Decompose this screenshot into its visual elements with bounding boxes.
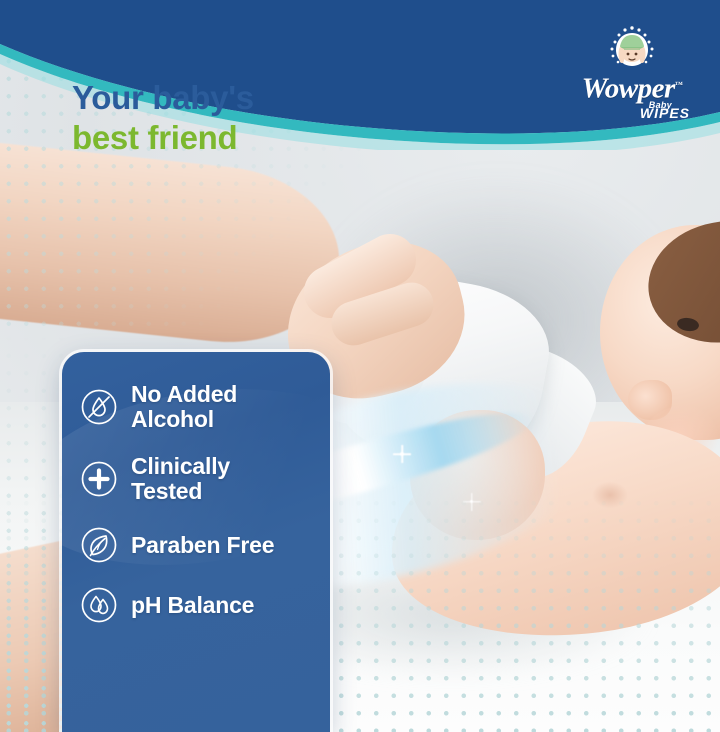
baby-with-towel-icon bbox=[605, 26, 659, 72]
headline-line-1: Your baby's bbox=[72, 78, 254, 118]
feature-label: Paraben Free bbox=[131, 533, 274, 558]
advertisement-banner: Wowper™ Baby WIPES Your baby's best frie… bbox=[0, 0, 720, 732]
feature-label-line-1: Clinically bbox=[131, 453, 230, 479]
water-droplets-icon bbox=[80, 586, 118, 624]
dot-pattern-left bbox=[0, 312, 70, 732]
feature-label-line-2: Tested bbox=[131, 478, 202, 504]
brand-logo: Wowper™ Baby WIPES bbox=[566, 26, 698, 110]
page-title: Your baby's best friend bbox=[72, 78, 254, 158]
logo-wordmark: Wowper™ bbox=[566, 70, 698, 104]
feature-item-paraben-free: Paraben Free bbox=[80, 526, 330, 564]
headline-line-2: best friend bbox=[72, 118, 254, 158]
feature-label: ClinicallyTested bbox=[131, 454, 230, 504]
feature-item-no-added-alcohol: No AddedAlcohol bbox=[80, 382, 330, 432]
no-alcohol-droplet-icon bbox=[80, 388, 118, 426]
feature-label-line-2: Alcohol bbox=[131, 406, 214, 432]
feature-list: No AddedAlcohol ClinicallyTested bbox=[62, 352, 330, 624]
leaf-icon bbox=[80, 526, 118, 564]
features-panel: No AddedAlcohol ClinicallyTested bbox=[62, 352, 330, 732]
feature-label-line-1: No Added bbox=[131, 381, 237, 407]
dot-pattern-top-left bbox=[0, 0, 420, 330]
feature-item-clinically-tested: ClinicallyTested bbox=[80, 454, 330, 504]
feature-label: pH Balance bbox=[131, 593, 254, 618]
medical-plus-icon bbox=[80, 460, 118, 498]
logo-trademark: ™ bbox=[675, 80, 683, 89]
feature-item-ph-balance: pH Balance bbox=[80, 586, 330, 624]
logo-subtitle-wipes: WIPES bbox=[566, 109, 698, 118]
feature-label: No AddedAlcohol bbox=[131, 382, 237, 432]
